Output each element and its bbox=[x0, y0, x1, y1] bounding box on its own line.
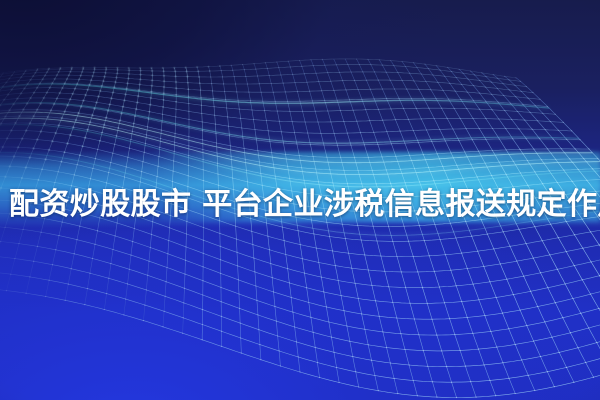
headline-text: 配资炒股股市 平台企业涉税信息报送规定作用初显 bbox=[9, 179, 595, 223]
banner-graphic: 配资炒股股市 平台企业涉税信息报送规定作用初显 bbox=[0, 0, 600, 400]
